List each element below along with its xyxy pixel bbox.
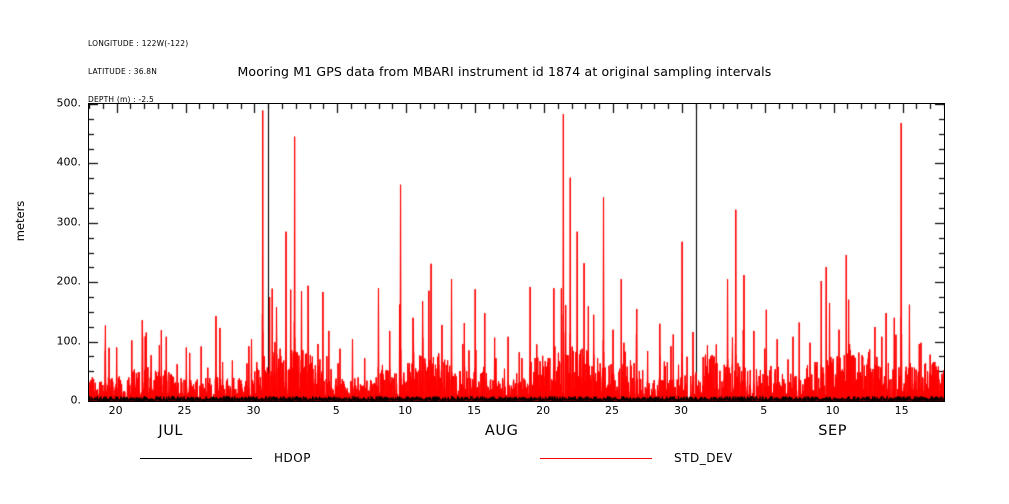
- y-axis-title: meters: [13, 176, 27, 266]
- x-tick-label: 15: [895, 404, 909, 417]
- metadata-longitude: LONGITUDE : 122W(-122): [88, 39, 188, 48]
- x-axis-labels: 2025305101520253051015: [88, 404, 943, 422]
- x-tick-label: 5: [333, 404, 340, 417]
- month-label: SEP: [818, 423, 847, 439]
- month-label: AUG: [485, 423, 519, 439]
- y-tick-label: 500.: [57, 97, 82, 110]
- x-tick-label: 10: [398, 404, 412, 417]
- month-label: JUL: [158, 423, 183, 439]
- y-tick-label: 0.: [71, 394, 82, 407]
- legend-swatch-stddev: [540, 458, 652, 459]
- x-tick-label: 30: [674, 404, 688, 417]
- plot-canvas: [89, 104, 944, 401]
- chart-page: LONGITUDE : 122W(-122) LATITUDE : 36.8N …: [0, 0, 1009, 504]
- y-tick-label: 300.: [57, 215, 82, 228]
- x-tick-label: 25: [178, 404, 192, 417]
- legend-label-stddev: STD_DEV: [674, 451, 733, 465]
- x-tick-label: 30: [246, 404, 260, 417]
- legend-entry-stddev: STD_DEV: [540, 448, 733, 468]
- y-tick-label: 400.: [57, 156, 82, 169]
- x-tick-label: 25: [605, 404, 619, 417]
- chart-title: Mooring M1 GPS data from MBARI instrumen…: [0, 64, 1009, 79]
- y-tick-label: 200.: [57, 275, 82, 288]
- x-tick-label: 15: [467, 404, 481, 417]
- legend-label-hdop: HDOP: [274, 451, 311, 465]
- x-tick-label: 20: [109, 404, 123, 417]
- x-tick-label: 10: [826, 404, 840, 417]
- chart-legend: HDOP STD_DEV: [88, 448, 943, 474]
- x-axis-month-labels: JULAUGSEP: [88, 423, 943, 445]
- legend-swatch-hdop: [140, 458, 252, 459]
- plot-area: [88, 103, 945, 402]
- y-tick-label: 100.: [57, 334, 82, 347]
- legend-entry-hdop: HDOP: [140, 448, 311, 468]
- x-tick-label: 20: [536, 404, 550, 417]
- x-tick-label: 5: [760, 404, 767, 417]
